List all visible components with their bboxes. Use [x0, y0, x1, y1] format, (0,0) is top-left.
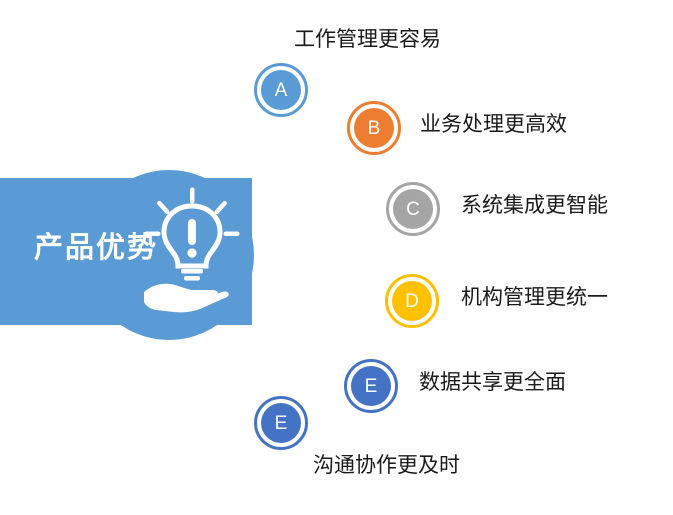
advantage-item-e1[interactable]: E [344, 359, 398, 413]
badge-core-a: A [261, 70, 301, 110]
advantage-item-d[interactable]: D [385, 274, 439, 328]
product-advantage-banner: 产品优势 [0, 160, 340, 355]
badge-core-b: B [354, 108, 394, 148]
advantage-label-b: 业务处理更高效 [420, 114, 567, 135]
advantage-item-e2[interactable]: E [254, 396, 308, 450]
badge-core-d: D [392, 281, 432, 321]
badge-letter-d: D [405, 292, 419, 311]
badge-letter-c: C [406, 200, 420, 219]
badge-letter-a: A [275, 81, 288, 100]
advantage-item-a[interactable]: A [254, 63, 308, 117]
badge-core-e2: E [261, 403, 301, 443]
badge-circle-c[interactable]: C [386, 182, 440, 236]
advantage-item-b[interactable]: B [347, 101, 401, 155]
badge-letter-e1: E [365, 377, 378, 396]
badge-circle-e1[interactable]: E [344, 359, 398, 413]
badge-letter-e2: E [275, 414, 288, 433]
badge-circle-b[interactable]: B [347, 101, 401, 155]
advantage-label-a: 工作管理更容易 [294, 29, 441, 50]
badge-circle-d[interactable]: D [385, 274, 439, 328]
badge-core-e1: E [351, 366, 391, 406]
advantage-item-c[interactable]: C [386, 182, 440, 236]
lightbulb-in-hand-icon [142, 186, 242, 316]
advantage-label-c: 系统集成更智能 [461, 195, 608, 216]
badge-letter-b: B [368, 119, 381, 138]
badge-circle-a[interactable]: A [254, 63, 308, 117]
diagram-canvas: 产品优势 [0, 0, 673, 515]
advantage-label-d: 机构管理更统一 [461, 287, 608, 308]
badge-core-c: C [393, 189, 433, 229]
advantage-label-e2: 沟通协作更及时 [313, 455, 460, 476]
badge-circle-e2[interactable]: E [254, 396, 308, 450]
advantage-label-e1: 数据共享更全面 [419, 372, 566, 393]
